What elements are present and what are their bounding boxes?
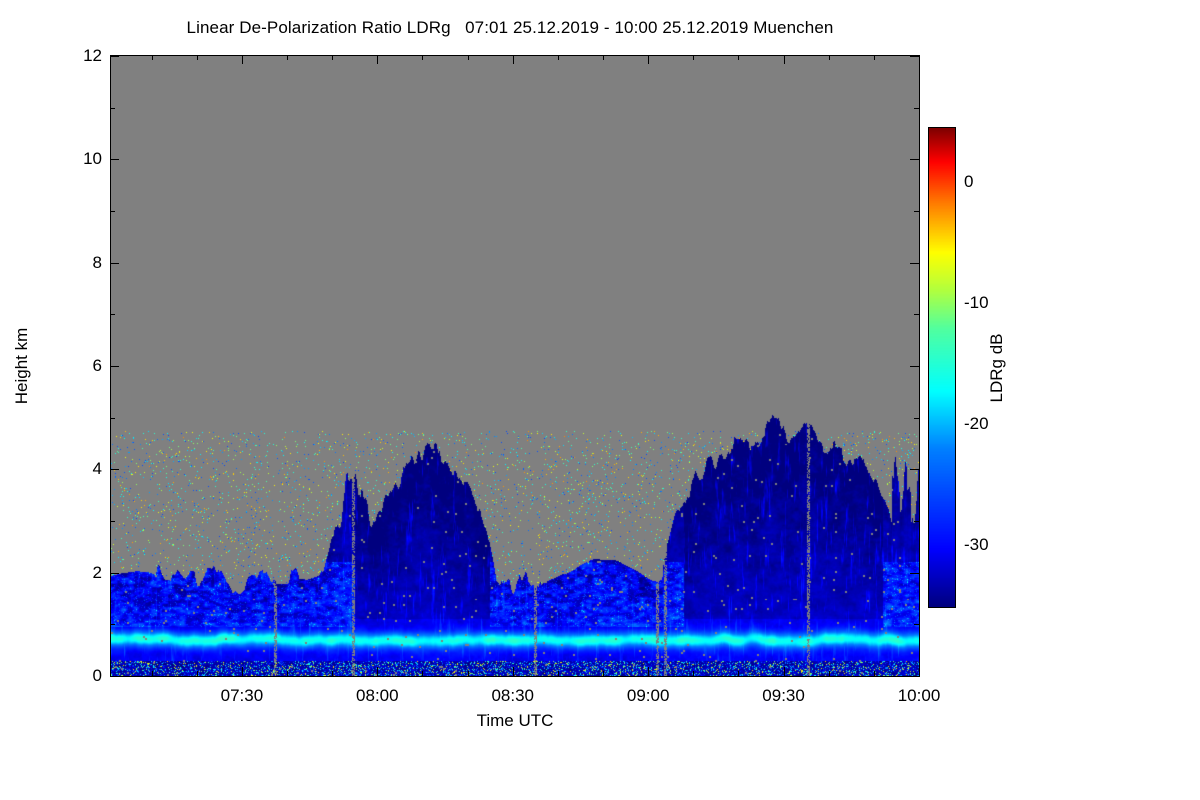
page-title: Linear De-Polarization Ratio LDRg 07:01 … <box>0 18 1020 38</box>
colorbar-title: LDRg dB <box>987 334 1007 403</box>
y-tick-label: 8 <box>93 253 102 273</box>
x-tick-label: 08:30 <box>491 686 534 706</box>
colorbar-tick-label: 0 <box>964 172 973 192</box>
colorbar-tick-label: -10 <box>964 293 989 313</box>
x-tick-label: 10:00 <box>898 686 941 706</box>
colorbar-gradient <box>929 128 955 607</box>
y-tick-label: 6 <box>93 356 102 376</box>
plot-area[interactable] <box>110 55 920 677</box>
x-tick-label: 09:00 <box>627 686 670 706</box>
x-axis-title: Time UTC <box>110 711 920 731</box>
y-axis-title: Height km <box>12 328 32 405</box>
colorbar-tick-label: -30 <box>964 535 989 555</box>
x-tick-label: 09:30 <box>762 686 805 706</box>
x-tick-label: 08:00 <box>356 686 399 706</box>
colorbar-tick-label: -20 <box>964 414 989 434</box>
radar-heatmap-canvas[interactable] <box>111 56 919 676</box>
y-tick-label: 12 <box>83 46 102 66</box>
colorbar[interactable] <box>928 127 956 608</box>
y-tick-label: 2 <box>93 563 102 583</box>
x-tick-label: 07:30 <box>221 686 264 706</box>
ldrg-time-height-figure: Linear De-Polarization Ratio LDRg 07:01 … <box>0 0 1200 800</box>
y-tick-label: 10 <box>83 149 102 169</box>
y-tick-label: 0 <box>93 666 102 686</box>
y-tick-label: 4 <box>93 459 102 479</box>
